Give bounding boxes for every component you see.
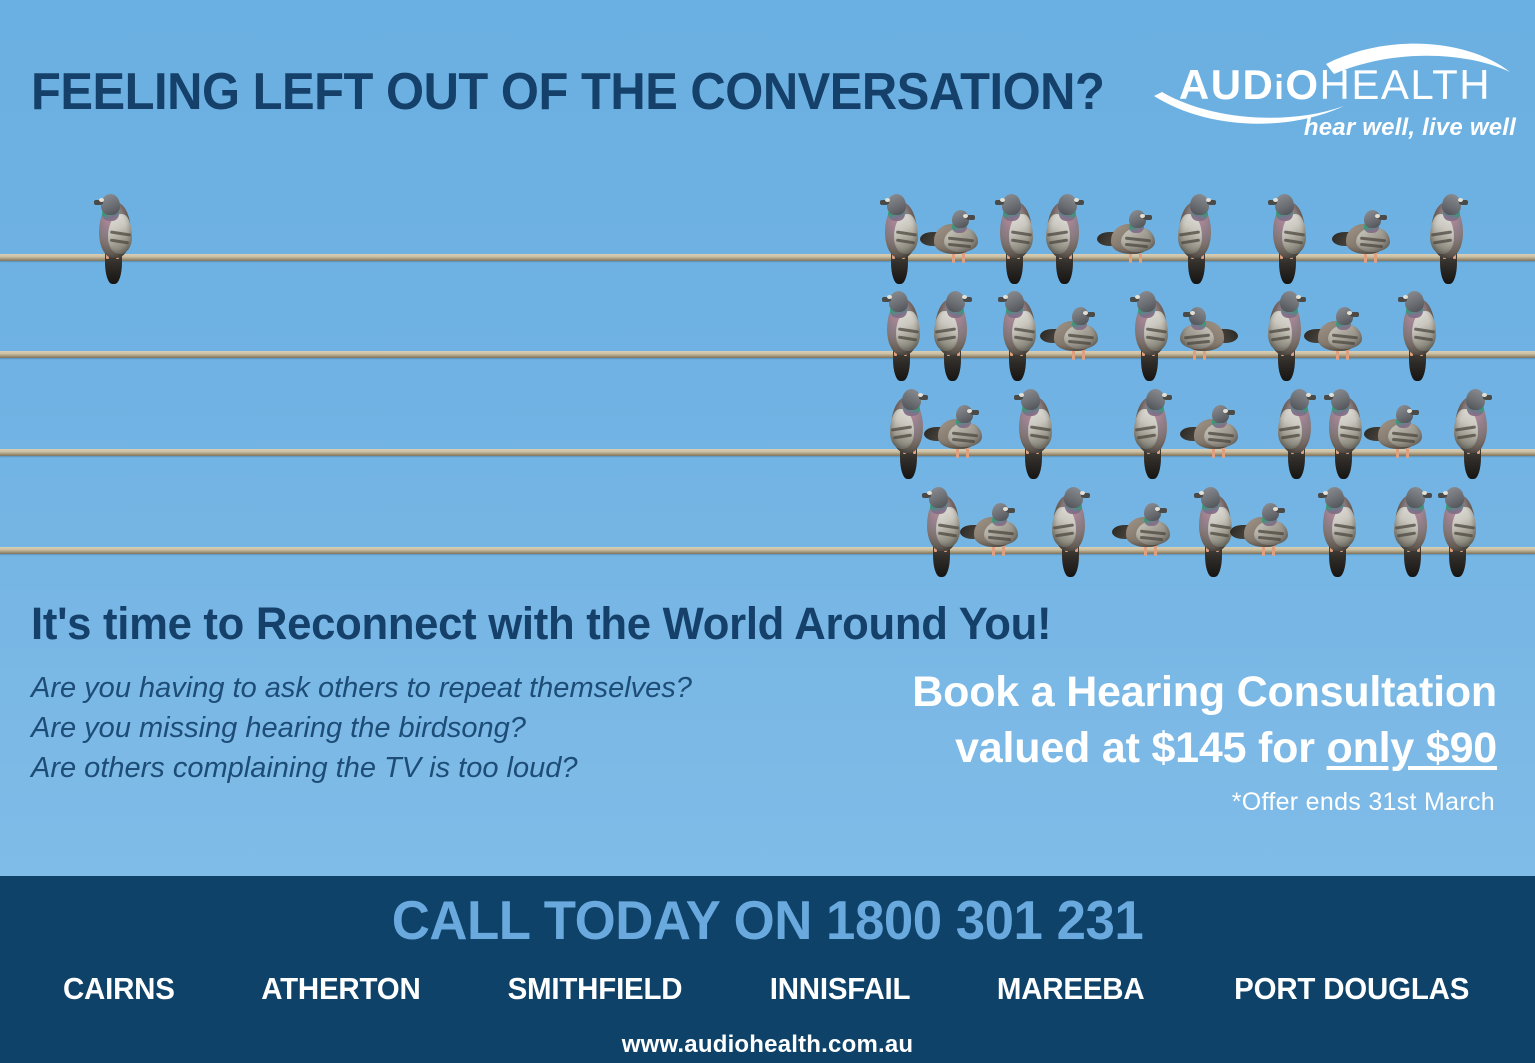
pigeon	[880, 289, 926, 385]
pigeon	[996, 289, 1042, 385]
website-url[interactable]: www.audiohealth.com.au	[0, 1031, 1535, 1059]
pigeon-cere	[1206, 198, 1211, 202]
pigeon-head	[902, 389, 921, 410]
logo-tagline: hear well, live well	[1304, 114, 1516, 142]
pigeon-head	[1137, 291, 1156, 312]
pigeon	[968, 503, 1026, 565]
pigeon	[1128, 387, 1174, 483]
pigeon	[1436, 485, 1482, 581]
pigeon	[928, 210, 986, 272]
pigeon	[1396, 289, 1442, 385]
pigeon	[920, 485, 966, 581]
pigeon	[1188, 405, 1246, 467]
pigeon	[1262, 289, 1308, 385]
pigeon	[92, 192, 138, 288]
pigeon-cere	[1375, 214, 1380, 218]
logo-i: i	[1274, 69, 1285, 107]
pigeon-head	[1005, 291, 1024, 312]
pigeon-cere	[1422, 491, 1427, 495]
pigeon-head	[1405, 291, 1424, 312]
pigeon	[1172, 192, 1218, 288]
call-today-label: CALL TODAY ON	[392, 889, 826, 951]
pigeon	[932, 405, 990, 467]
pigeon-head	[1201, 487, 1220, 508]
pigeon-cere	[1080, 491, 1085, 495]
pigeon-cere	[1190, 311, 1195, 315]
page-title: FEELING LEFT OUT OF THE CONVERSATION?	[31, 62, 1104, 122]
pigeon	[1388, 485, 1434, 581]
pigeon-head	[1290, 389, 1309, 410]
pigeon-head	[1466, 389, 1485, 410]
pigeon-head	[929, 487, 948, 508]
pigeon-head	[889, 291, 908, 312]
location-mareeba[interactable]: MAREEBA	[997, 971, 1145, 1007]
pigeon-cere	[1000, 198, 1005, 202]
pigeon-cere	[1273, 198, 1278, 202]
pigeon-cere	[1162, 393, 1167, 397]
pigeon-cere	[1223, 409, 1228, 413]
pigeon	[1172, 307, 1230, 369]
pigeon-cere	[1003, 507, 1008, 511]
pigeon-head	[1445, 487, 1464, 508]
pigeon-cere	[99, 198, 104, 202]
pigeon-cere	[1323, 491, 1328, 495]
pigeon	[1040, 192, 1086, 288]
advertisement-poster: FEELING LEFT OUT OF THE CONVERSATION? AU…	[0, 0, 1535, 1063]
pigeon	[884, 387, 930, 483]
phone-number[interactable]: 1800 301 231	[826, 889, 1143, 951]
pigeon-head	[1146, 389, 1165, 410]
pigeon-cere	[1199, 491, 1204, 495]
pigeon-cere	[1003, 295, 1008, 299]
pigeon	[1424, 192, 1470, 288]
pigeon	[1272, 387, 1318, 483]
pigeon-head	[1275, 194, 1294, 215]
subheading: It's time to Reconnect with the World Ar…	[31, 598, 1051, 650]
pigeon-cere	[1482, 393, 1487, 397]
pigeon-head	[1331, 389, 1350, 410]
pigeon-head	[887, 194, 906, 215]
pigeon-head	[1002, 194, 1021, 215]
pigeon-head	[1190, 194, 1209, 215]
offer-price-prefix: valued at $145 for	[955, 724, 1326, 772]
pigeon-cere	[1135, 295, 1140, 299]
pigeon-cere	[1273, 507, 1278, 511]
pigeon	[1105, 210, 1163, 272]
pigeon	[1266, 192, 1312, 288]
pigeon-cere	[1329, 393, 1334, 397]
pigeon-cere	[1074, 198, 1079, 202]
pigeon-head	[1058, 194, 1077, 215]
pigeon-head	[1442, 194, 1461, 215]
logo-wordmark: AUDiOHEALTH	[1152, 64, 1518, 106]
logo-o: O	[1285, 61, 1319, 108]
pigeon-cere	[1083, 311, 1088, 315]
offer-line-2: valued at $145 for only $90	[797, 720, 1497, 776]
pigeon-cere	[1458, 198, 1463, 202]
pigeon	[1312, 307, 1370, 369]
call-to-action[interactable]: CALL TODAY ON 1800 301 231	[31, 888, 1505, 952]
offer-line-1: Book a Hearing Consultation	[797, 664, 1497, 720]
pigeon-head	[1406, 487, 1425, 508]
pigeon-cere	[1306, 393, 1311, 397]
location-cairns[interactable]: CAIRNS	[63, 971, 175, 1007]
question-line: Are you missing hearing the birdsong?	[31, 708, 692, 748]
pigeon-cere	[1443, 491, 1448, 495]
logo-aud: AUD	[1179, 61, 1275, 108]
location-smithfield[interactable]: SMITHFIELD	[508, 971, 683, 1007]
location-port-douglas[interactable]: PORT DOUGLAS	[1234, 971, 1469, 1007]
audiohealth-logo[interactable]: AUDiOHEALTH hear well, live well	[1148, 26, 1520, 138]
pigeon-head	[1064, 487, 1083, 508]
location-innisfail[interactable]: INNISFAIL	[770, 971, 911, 1007]
pigeon-cere	[887, 295, 892, 299]
location-atherton[interactable]: ATHERTON	[261, 971, 420, 1007]
pigeon	[993, 192, 1039, 288]
pigeon-cere	[1296, 295, 1301, 299]
pigeon	[1048, 307, 1106, 369]
pigeon-cere	[967, 409, 972, 413]
pigeon	[1128, 289, 1174, 385]
offer-price-highlight: only $90	[1327, 724, 1497, 772]
pigeon-cere	[918, 393, 923, 397]
pigeon-cere	[1155, 507, 1160, 511]
pigeon	[1046, 485, 1092, 581]
pigeon-head	[1189, 307, 1206, 325]
pigeon	[1120, 503, 1178, 565]
pigeon	[1012, 387, 1058, 483]
pigeon	[1372, 405, 1430, 467]
question-list: Are you having to ask others to repeat t…	[31, 668, 692, 788]
power-wire-4	[0, 547, 1535, 554]
pigeon-head	[1021, 389, 1040, 410]
pigeon	[1448, 387, 1494, 483]
pigeon-cere	[1347, 311, 1352, 315]
pigeon-cere	[962, 295, 967, 299]
pigeon-cere	[1140, 214, 1145, 218]
pigeon-cere	[1019, 393, 1024, 397]
pigeon	[928, 289, 974, 385]
pigeon	[1340, 210, 1398, 272]
pigeon-head	[1325, 487, 1344, 508]
logo-health: HEALTH	[1320, 61, 1492, 108]
pigeon-cere	[1403, 295, 1408, 299]
pigeon	[1238, 503, 1296, 565]
question-line: Are others complaining the TV is too lou…	[31, 748, 692, 788]
pigeon-cere	[927, 491, 932, 495]
pigeon	[1316, 485, 1362, 581]
offer-block: Book a Hearing Consultation valued at $1…	[797, 664, 1497, 776]
location-list: CAIRNSATHERTONSMITHFIELDINNISFAILMAREEBA…	[60, 971, 1475, 1007]
pigeon	[1322, 387, 1368, 483]
pigeon-cere	[885, 198, 890, 202]
pigeon-head	[101, 194, 120, 215]
question-line: Are you having to ask others to repeat t…	[31, 668, 692, 708]
pigeon-head	[1280, 291, 1299, 312]
offer-disclaimer: *Offer ends 31st March	[1232, 788, 1495, 817]
pigeon-head	[946, 291, 965, 312]
footer-band: CALL TODAY ON 1800 301 231 CAIRNSATHERTO…	[0, 876, 1535, 1063]
pigeon	[878, 192, 924, 288]
pigeon-cere	[1407, 409, 1412, 413]
pigeon-cere	[963, 214, 968, 218]
